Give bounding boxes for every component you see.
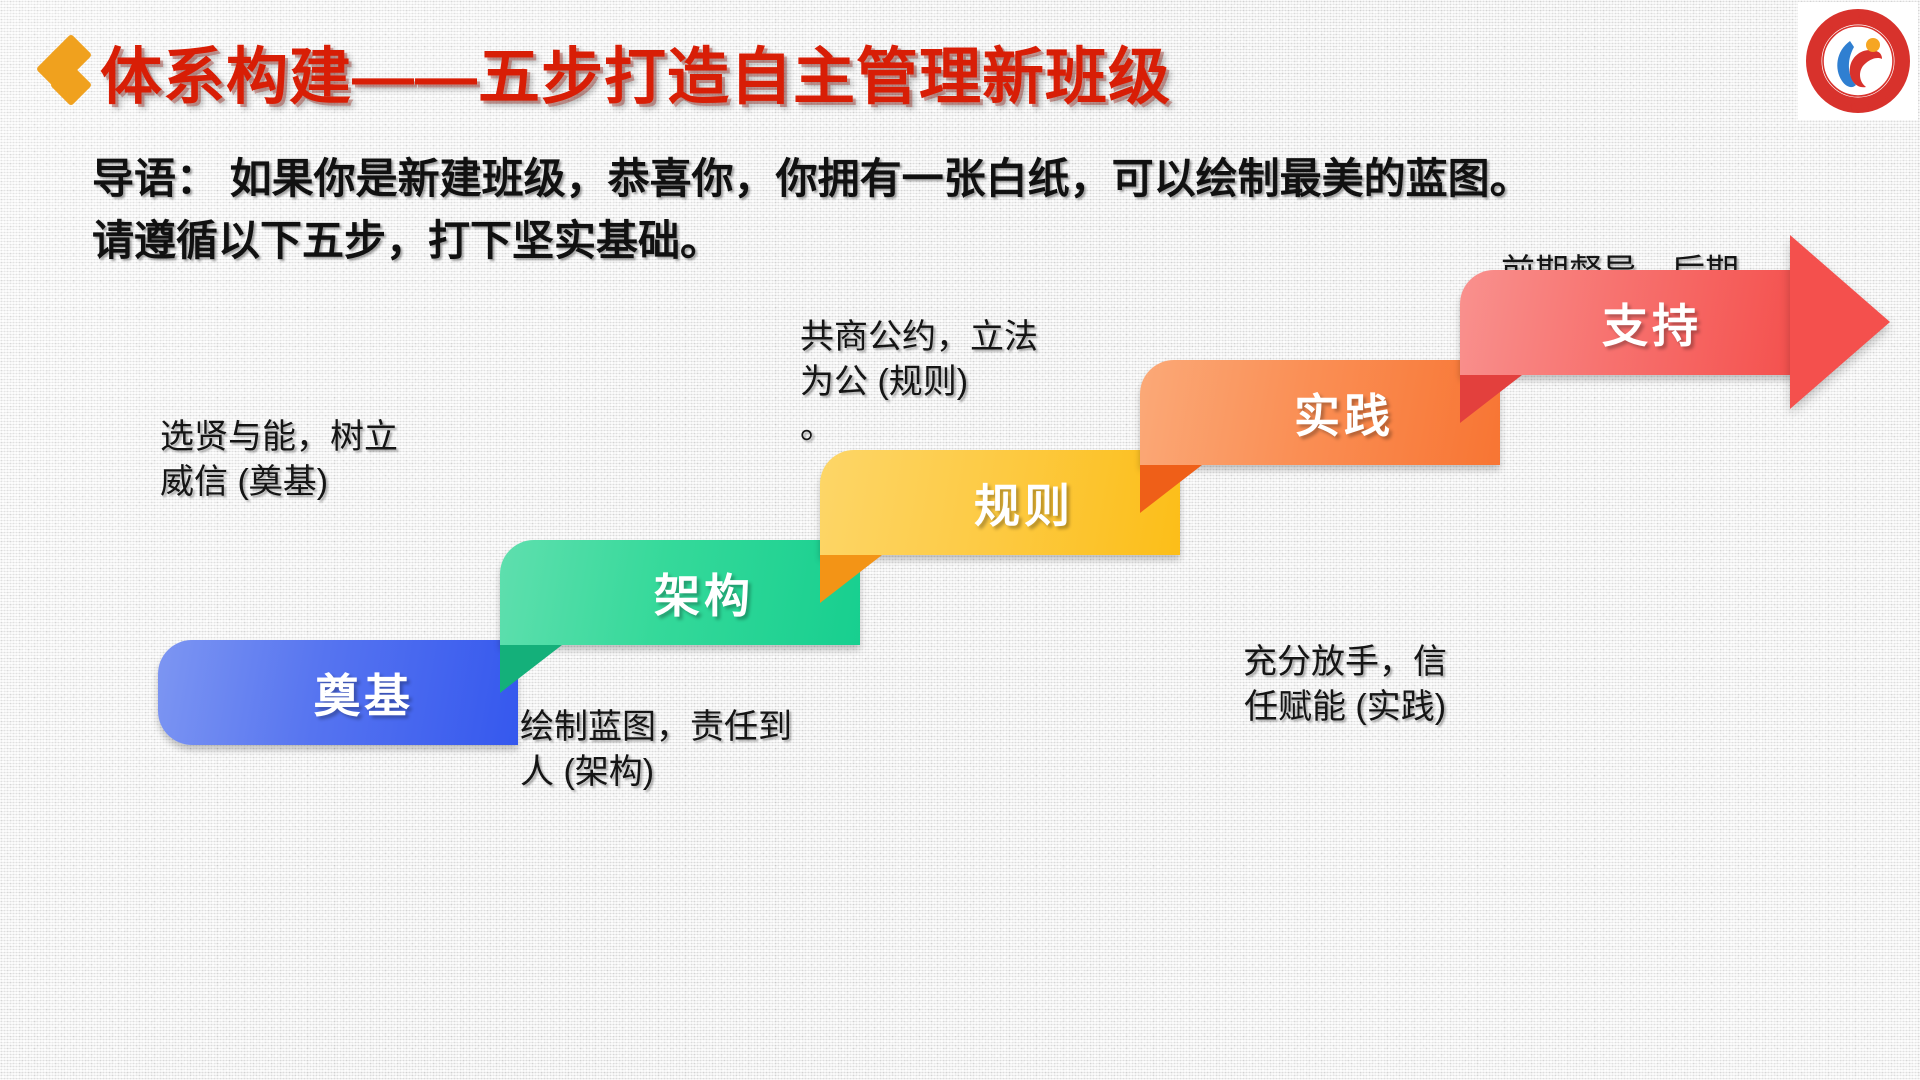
step-3-caption: 共商公约，立法 为公 (规则) 。 xyxy=(800,315,1090,450)
page-title: 体系构建——五步打造自主管理新班级 xyxy=(100,26,1171,116)
svg-text:文: 文 xyxy=(1828,22,1835,31)
step-4-label: 实践 xyxy=(1294,380,1394,446)
svg-text:貌: 貌 xyxy=(1872,15,1879,24)
svg-text:心: 心 xyxy=(1883,96,1890,104)
svg-text:慎: 慎 xyxy=(1850,102,1857,111)
step-4-chevron[interactable]: 实践 xyxy=(1140,360,1500,465)
step-1-chevron[interactable]: 奠基 xyxy=(158,640,518,745)
svg-text:笃: 笃 xyxy=(1832,96,1839,105)
step-2-shadow-tab xyxy=(500,645,562,693)
svg-text:礼: 礼 xyxy=(1857,12,1864,21)
diamond-bullet-icon xyxy=(42,40,96,102)
step-3-chevron[interactable]: 规则 xyxy=(820,450,1180,555)
step-1-label: 奠基 xyxy=(314,660,414,726)
step-4-caption: 充分放手，信 任赋能 (实践) xyxy=(1200,640,1490,730)
step-1-caption: 选贤与能，树立 威信 (奠基) xyxy=(160,415,460,505)
step-2-caption: 绘制蓝图，责任到 人 (架构) xyxy=(520,705,850,795)
step-4-shadow-tab xyxy=(1140,465,1202,513)
lead-line-1: 导语： 如果你是新建班级，恭喜你，你拥有一张白纸，可以绘制最美的蓝图。 xyxy=(92,148,1852,210)
svg-text:智: 智 xyxy=(1867,102,1874,111)
step-5-label: 支持 xyxy=(1602,290,1702,356)
step-3-shadow-tab xyxy=(820,555,882,603)
slide-header: 体系构建——五步打造自主管理新班级 文明礼 貌工 笃慎智心 xyxy=(0,0,1920,140)
school-emblem-logo: 文明礼 貌工 笃慎智心 xyxy=(1804,7,1912,115)
step-2-chevron[interactable]: 架构 xyxy=(500,540,860,645)
svg-text:明: 明 xyxy=(1842,16,1849,24)
step-2-label: 架构 xyxy=(654,560,754,626)
step-5-shadow-tab xyxy=(1460,375,1522,423)
slide-canvas: 体系构建——五步打造自主管理新班级 文明礼 貌工 笃慎智心 xyxy=(0,0,1920,1080)
step-3-label: 规则 xyxy=(974,470,1074,536)
process-diagram: 选贤与能，树立 威信 (奠基) 奠基 架构 绘制蓝图，责任到 人 (架构) 共商… xyxy=(0,300,1920,940)
svg-text:工: 工 xyxy=(1886,24,1893,32)
process-arrowhead-icon xyxy=(1790,235,1890,409)
step-5-chevron[interactable]: 支持 xyxy=(1460,270,1800,375)
logo-container: 文明礼 貌工 笃慎智心 xyxy=(1798,2,1918,120)
